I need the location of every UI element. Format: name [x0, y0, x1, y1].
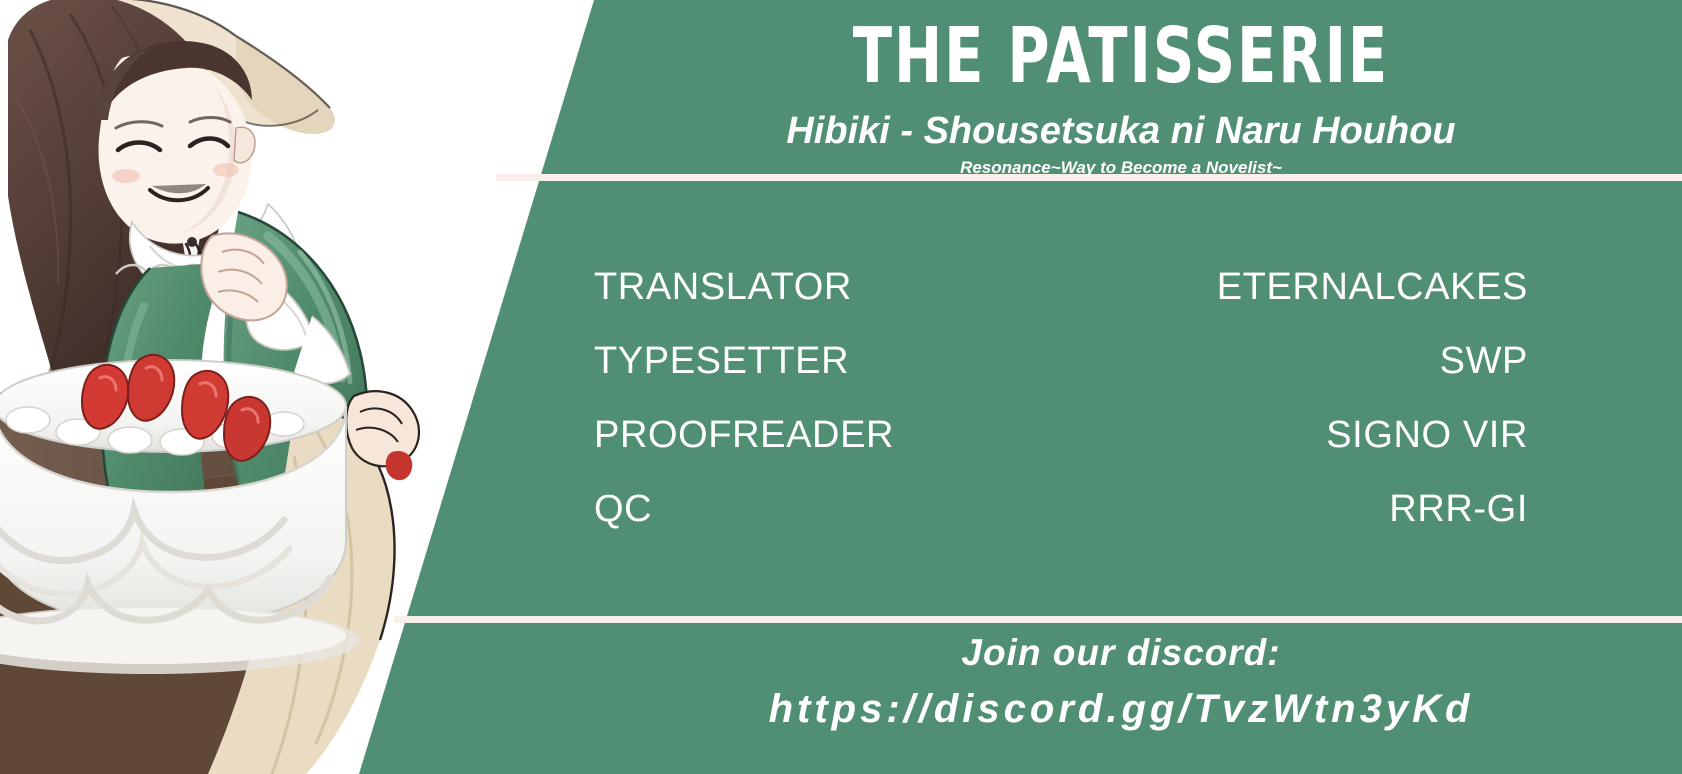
credit-role-translator: TRANSLATOR [594, 268, 852, 306]
credit-role-qc: QC [594, 490, 652, 528]
footer-divider-rule [394, 616, 1682, 623]
credit-name-proofreader: SIGNO VIR [1326, 416, 1528, 454]
credit-row: QC RRR-GI [594, 490, 1528, 528]
page-title: THE PATISSERIE [582, 18, 1659, 95]
credit-row: PROOFREADER SIGNO VIR [594, 416, 1528, 454]
discord-invite-label: Join our discord: [560, 634, 1682, 671]
discord-invite-link[interactable]: https://discord.gg/TvzWtn3yKd [560, 689, 1682, 729]
header: THE PATISSERIE Hibiki - Shousetsuka ni N… [560, 4, 1682, 176]
series-subtitle-translation: Resonance~Way to Become a Novelist~ [560, 159, 1682, 176]
credit-name-translator: ETERNALCAKES [1217, 268, 1528, 306]
credit-role-proofreader: PROOFREADER [594, 416, 894, 454]
credits-list: TRANSLATOR ETERNALCAKES TYPESETTER SWP P… [594, 268, 1528, 564]
credit-name-typesetter: SWP [1440, 342, 1528, 380]
credits-page: THE PATISSERIE Hibiki - Shousetsuka ni N… [0, 0, 1682, 774]
credit-role-typesetter: TYPESETTER [594, 342, 849, 380]
series-subtitle: Hibiki - Shousetsuka ni Naru Houhou [560, 112, 1682, 150]
credit-row: TRANSLATOR ETERNALCAKES [594, 268, 1528, 306]
footer: Join our discord: https://discord.gg/Tvz… [560, 634, 1682, 729]
credit-name-qc: RRR-GI [1389, 490, 1528, 528]
credit-row: TYPESETTER SWP [594, 342, 1528, 380]
